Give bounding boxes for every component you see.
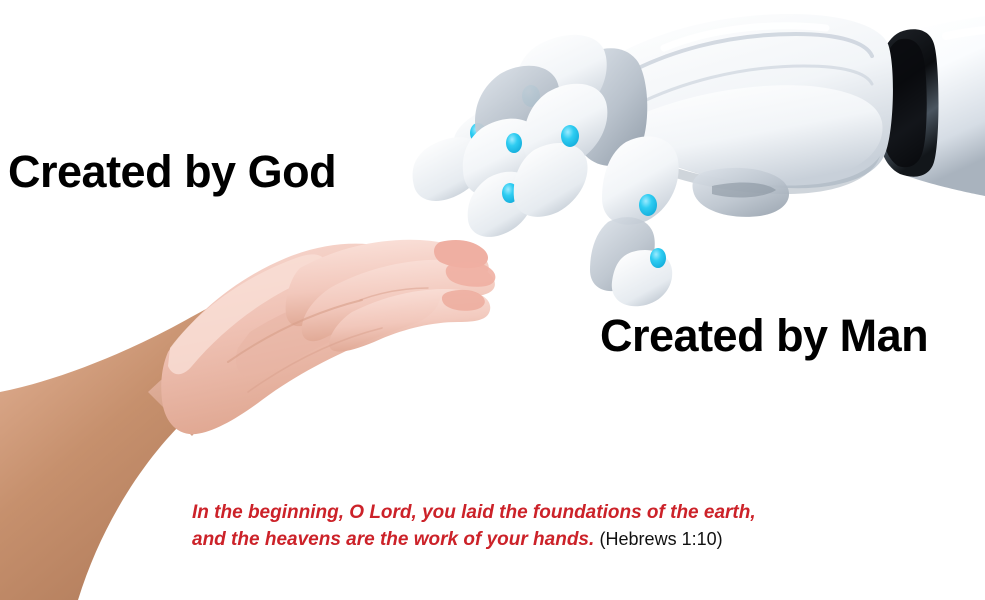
scripture-reference: (Hebrews 1:10) bbox=[600, 529, 723, 549]
robot-hand bbox=[413, 14, 985, 306]
robot-finger-4-led-tip bbox=[650, 248, 666, 268]
scripture-caption: In the beginning, O Lord, you laid the f… bbox=[192, 500, 892, 553]
robot-finger-2-led-mid bbox=[506, 133, 522, 153]
robot-finger-4-led bbox=[639, 194, 657, 216]
verse-line-1: In the beginning, O Lord, you laid the f… bbox=[192, 502, 756, 523]
robot-finger-3-led bbox=[561, 125, 579, 147]
label-created-by-god: Created by God bbox=[8, 146, 336, 198]
verse-line-2: and the heavens are the work of your han… bbox=[192, 529, 594, 550]
poster-canvas: Created by God Created by Man In the beg… bbox=[0, 0, 985, 600]
label-created-by-man: Created by Man bbox=[600, 310, 928, 362]
